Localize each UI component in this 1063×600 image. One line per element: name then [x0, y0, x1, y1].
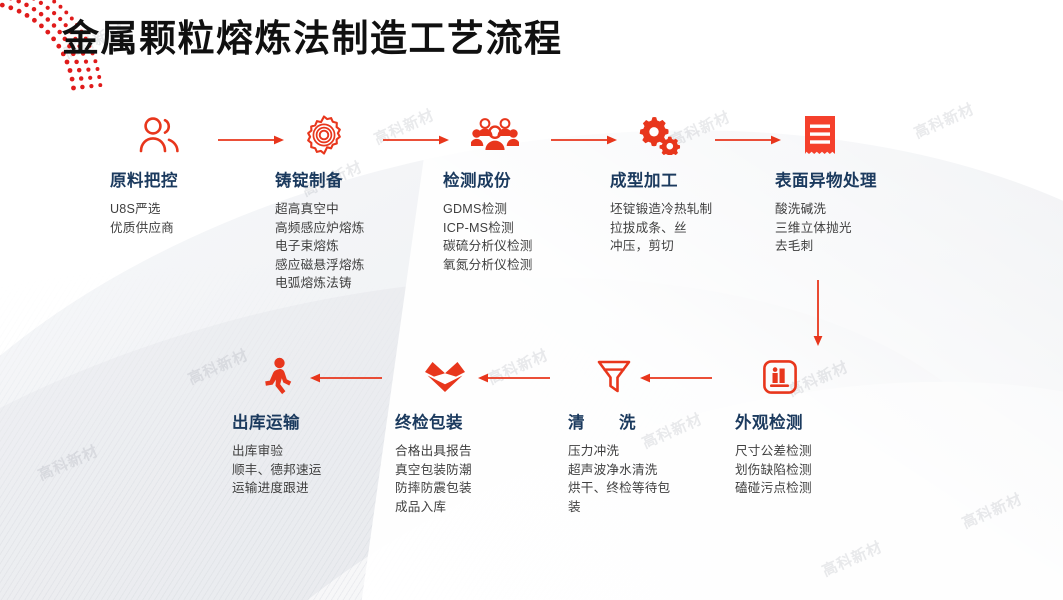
step-detail-line: 电子束熔炼	[275, 237, 440, 256]
step-heading: 检测成份	[443, 167, 608, 191]
step-heading: 表面异物处理	[775, 167, 940, 191]
step-detail-line: 三维立体抛光	[775, 219, 940, 238]
flow-arrow-left-r2-0	[640, 372, 712, 384]
step-detail-line: 拉拔成条、丝	[610, 219, 775, 238]
step-heading: 出库运输	[232, 409, 397, 433]
step-heading: 清 洗	[568, 409, 733, 433]
step-detail-list: 超高真空中高频感应炉熔炼电子束熔炼感应磁悬浮熔炼电弧熔炼法铸	[275, 200, 440, 293]
step-detail-list: U8S严选优质供应商	[110, 200, 275, 237]
step-detail-line: 真空包装防潮	[395, 461, 560, 480]
step-detail-line: 压力冲洗	[568, 442, 733, 461]
step-detail-list: 出库审验顺丰、德邦速运运输进度跟进	[232, 442, 397, 498]
flow-arrow-left-r2-1	[478, 372, 550, 384]
step-detail-line: 出库审验	[232, 442, 397, 461]
step-detail-line: 磕碰污点检测	[735, 479, 900, 498]
document-lines-icon	[803, 112, 940, 158]
step-detail-list: 坯锭锻造冷热轧制拉拔成条、丝冲压，剪切	[610, 200, 775, 256]
step-detail-list: 合格出具报告真空包装防潮防摔防震包装成品入库	[395, 442, 560, 516]
step-detail-line: 运输进度跟进	[232, 479, 397, 498]
step-detail-line: 划伤缺陷检测	[735, 461, 900, 480]
step-heading: 终检包装	[395, 409, 560, 433]
step-detail-list: 尺寸公差检测划伤缺陷检测磕碰污点检测	[735, 442, 900, 498]
step-detail-line: 防摔防震包装	[395, 479, 560, 498]
step-detail-line: 优质供应商	[110, 219, 275, 238]
step-heading: 成型加工	[610, 167, 775, 191]
step-detail-line: GDMS检测	[443, 200, 608, 219]
step-detail-line: 装	[568, 498, 733, 517]
step-detail-line: 去毛刺	[775, 237, 940, 256]
step-detail-line: 高频感应炉熔炼	[275, 219, 440, 238]
step-detail-line: 碳硫分析仪检测	[443, 237, 608, 256]
flow-arrow-right-r1-1	[383, 134, 449, 146]
step-detail-line: 电弧熔炼法铸	[275, 274, 440, 293]
step-detail-line: 超声波净水清洗	[568, 461, 733, 480]
step-detail-line: 冲压，剪切	[610, 237, 775, 256]
step-detail-line: 氧氮分析仪检测	[443, 256, 608, 275]
step-detail-line: 酸洗碱洗	[775, 200, 940, 219]
step-detail-line: 烘干、终检等待包	[568, 479, 733, 498]
step-detail-line: U8S严选	[110, 200, 275, 219]
step-detail-line: 坯锭锻造冷热轧制	[610, 200, 775, 219]
process-flow-diagram: 原料把控U8S严选优质供应商铸锭制备超高真空中高频感应炉熔炼电子束熔炼感应磁悬浮…	[0, 0, 1063, 600]
step-detail-list: GDMS检测ICP-MS检测碳硫分析仪检测氧氮分析仪检测	[443, 200, 608, 274]
flow-arrow-right-r1-3	[715, 134, 781, 146]
step-heading: 外观检测	[735, 409, 900, 433]
process-step-appearance-inspection[interactable]: 外观检测尺寸公差检测划伤缺陷检测磕碰污点检测	[735, 354, 900, 498]
step-detail-line: 合格出具报告	[395, 442, 560, 461]
step-heading: 原料把控	[110, 167, 275, 191]
process-step-surface-treatment[interactable]: 表面异物处理酸洗碱洗三维立体抛光去毛刺	[775, 112, 940, 256]
step-detail-list: 压力冲洗超声波净水清洗烘干、终检等待包装	[568, 442, 733, 516]
step-detail-line: ICP-MS检测	[443, 219, 608, 238]
step-detail-line: 顺丰、德邦速运	[232, 461, 397, 480]
step-detail-line: 超高真空中	[275, 200, 440, 219]
flow-arrow-right-r1-2	[551, 134, 617, 146]
process-step-raw-material-control[interactable]: 原料把控U8S严选优质供应商	[110, 112, 275, 237]
step-detail-line: 感应磁悬浮熔炼	[275, 256, 440, 275]
flow-arrow-left-r2-2	[310, 372, 382, 384]
inspection-box-icon	[763, 354, 900, 400]
step-detail-line: 成品入库	[395, 498, 560, 517]
step-heading: 铸锭制备	[275, 167, 440, 191]
flow-arrow-right-r1-0	[218, 134, 284, 146]
flow-arrow-down-connector	[812, 280, 824, 346]
step-detail-line: 尺寸公差检测	[735, 442, 900, 461]
step-detail-list: 酸洗碱洗三维立体抛光去毛刺	[775, 200, 940, 256]
